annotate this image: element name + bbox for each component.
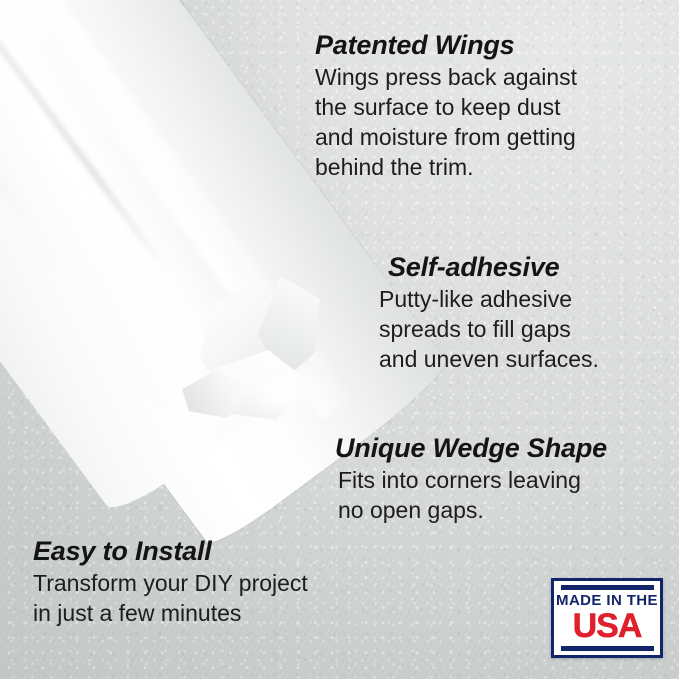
made-in-usa-badge: MADE IN THE USA [551, 578, 663, 658]
cut-end-highlight [248, 368, 322, 424]
callout-body-line: Transform your DIY project [33, 568, 308, 598]
callout-body-line: spreads to fill gaps [379, 314, 599, 344]
callout-self-adhesive: Self-adhesive Putty-like adhesive spread… [379, 251, 599, 374]
callout-heading: Patented Wings [315, 29, 577, 62]
callout-body-line: behind the trim. [315, 152, 577, 182]
infographic-canvas: Patented Wings Wings press back against … [0, 0, 679, 679]
product-photo [0, 0, 350, 470]
callout-body-line: no open gaps. [338, 495, 607, 525]
callout-body: Transform your DIY project in just a few… [33, 568, 308, 628]
callout-body-line: Wings press back against [315, 62, 577, 92]
callout-heading: Unique Wedge Shape [335, 432, 607, 465]
callout-patented-wings: Patented Wings Wings press back against … [315, 29, 577, 182]
badge-top-bar [561, 585, 654, 590]
callout-body: Fits into corners leaving no open gaps. [335, 465, 607, 525]
trim-strip-cut-end [196, 276, 328, 428]
callout-body: Wings press back against the surface to … [315, 62, 577, 182]
callout-body-line: the surface to keep dust [315, 92, 577, 122]
callout-unique-wedge-shape: Unique Wedge Shape Fits into corners lea… [335, 432, 607, 525]
callout-body-line: and moisture from getting [315, 122, 577, 152]
callout-easy-to-install: Easy to Install Transform your DIY proje… [33, 535, 308, 628]
badge-bottom-bar [561, 646, 654, 651]
callout-heading: Self-adhesive [379, 251, 599, 284]
badge-usa-text: USA [573, 609, 642, 643]
callout-body-line: and uneven surfaces. [379, 344, 599, 374]
callout-body-line: Putty-like adhesive [379, 284, 599, 314]
callout-body: Putty-like adhesive spreads to fill gaps… [379, 284, 599, 374]
callout-body-line: Fits into corners leaving [338, 465, 607, 495]
callout-body-line: in just a few minutes [33, 598, 308, 628]
callout-heading: Easy to Install [33, 535, 308, 568]
